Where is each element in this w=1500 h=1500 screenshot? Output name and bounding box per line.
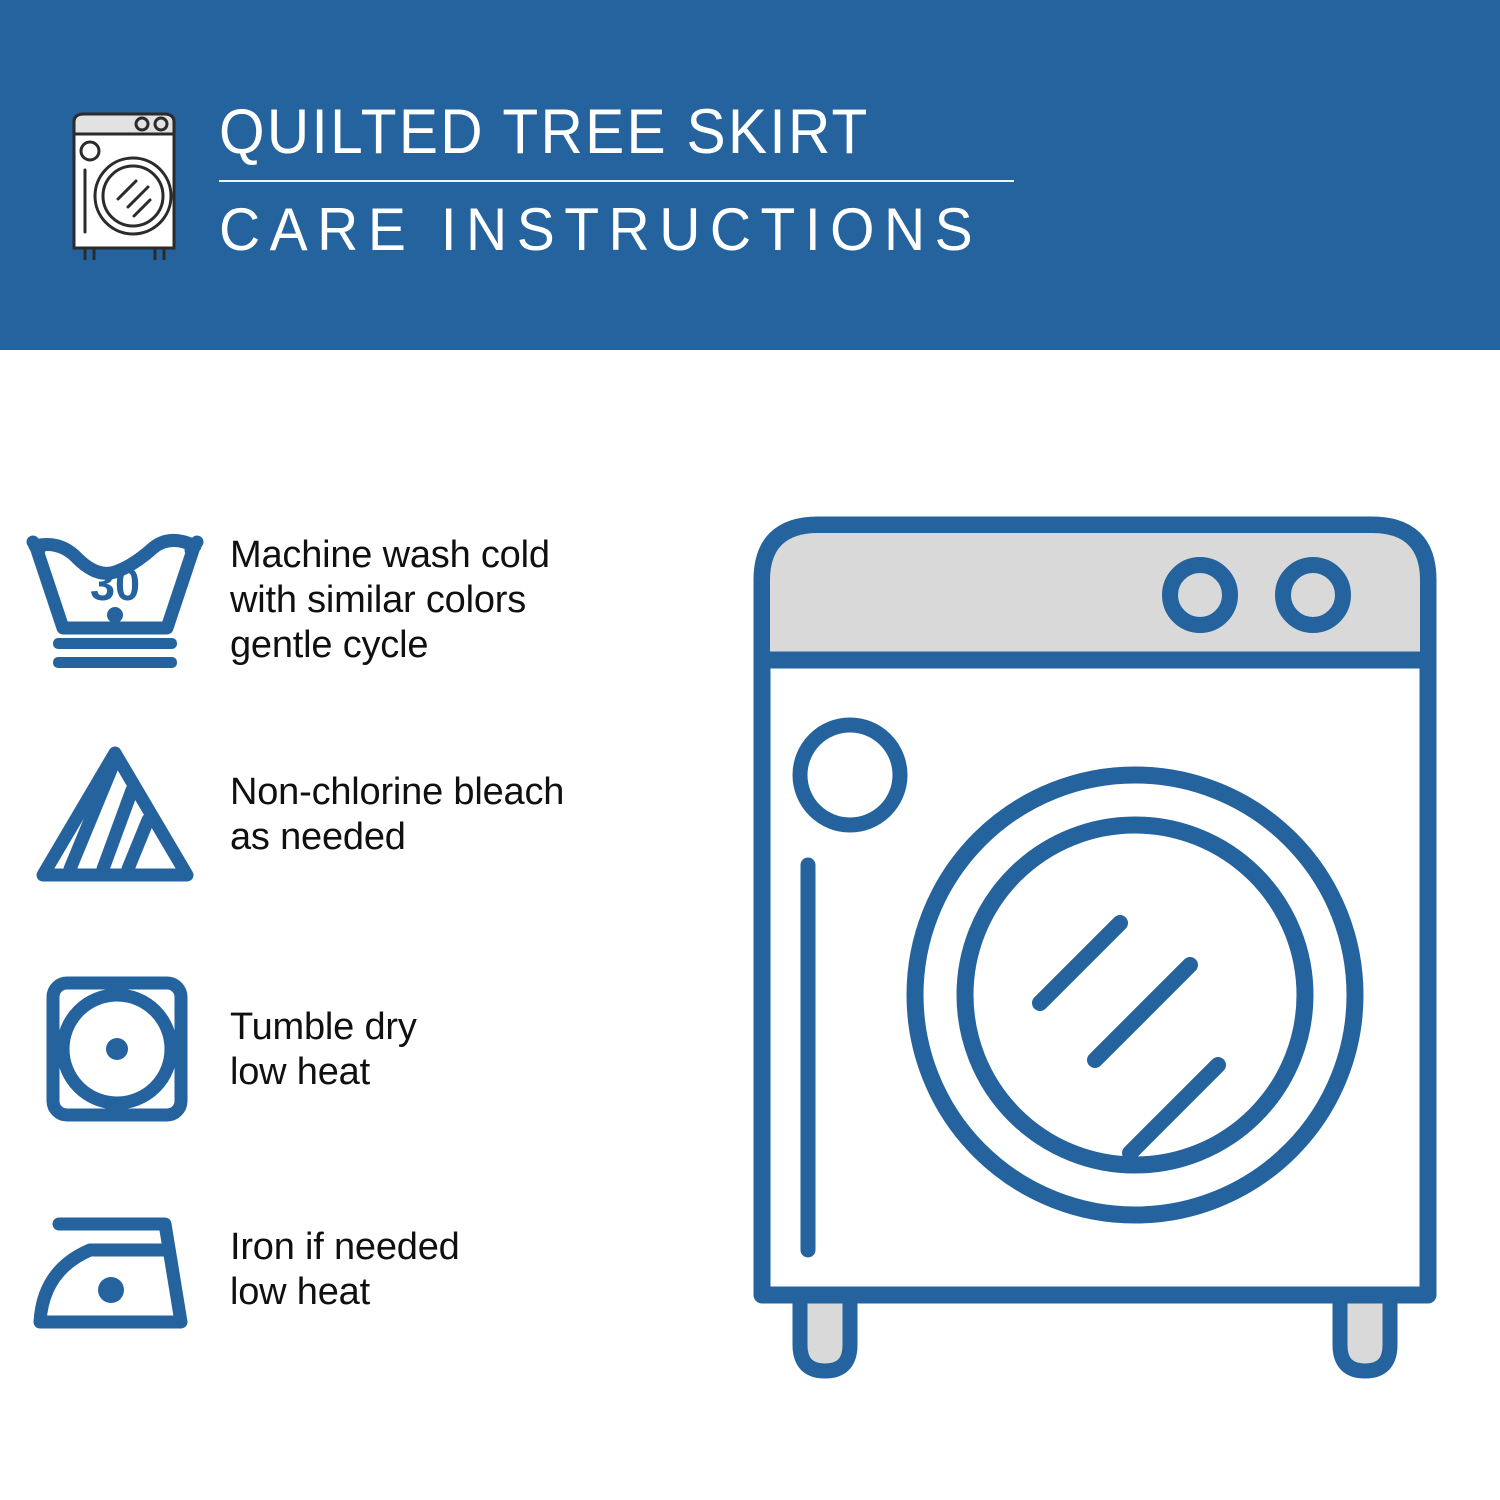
care-text-iron: Iron if needed low heat (230, 1225, 460, 1315)
iron-low-heat-icon (0, 1190, 230, 1350)
care-instruction-list: 30 Machine wash cold with similar colors… (0, 350, 740, 1500)
page-subtitle: CARE INSTRUCTIONS (219, 195, 979, 265)
care-text-bleach: Non-chlorine bleach as needed (230, 770, 564, 860)
bleach-triangle-icon (0, 735, 230, 895)
wash-tub-30-icon: 30 (0, 520, 230, 680)
care-text-tumble-dry: Tumble dry low heat (230, 1005, 417, 1095)
washing-machine-icon (62, 104, 192, 264)
care-text-machine-wash: Machine wash cold with similar colors ge… (230, 533, 550, 668)
care-row-iron: Iron if needed low heat (0, 1190, 740, 1350)
care-row-machine-wash: 30 Machine wash cold with similar colors… (0, 515, 740, 685)
wash-temp-label: 30 (90, 559, 140, 610)
washer-control-panel (770, 533, 1420, 660)
washing-machine-illustration (740, 495, 1450, 1415)
tumble-dry-low-icon (0, 970, 230, 1130)
title-divider (219, 180, 1014, 182)
header-band: QUILTED TREE SKIRT CARE INSTRUCTIONS (0, 0, 1500, 350)
care-row-bleach: Non-chlorine bleach as needed (0, 735, 740, 895)
care-instructions-page: QUILTED TREE SKIRT CARE INSTRUCTIONS 30 … (0, 0, 1500, 1500)
care-row-tumble-dry: Tumble dry low heat (0, 970, 740, 1130)
page-title: QUILTED TREE SKIRT (219, 95, 963, 169)
header-text-block: QUILTED TREE SKIRT CARE INSTRUCTIONS (219, 95, 1019, 265)
